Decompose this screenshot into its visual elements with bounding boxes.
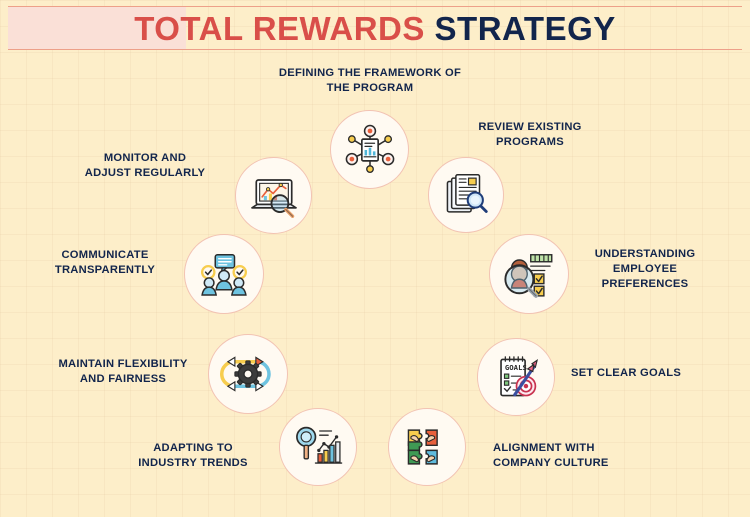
puzzle-hands-icon bbox=[400, 420, 454, 474]
svg-text:GOALS: GOALS bbox=[504, 363, 526, 372]
step-node-defining-framework[interactable] bbox=[330, 110, 409, 189]
step-label-monitor-and-adjust-regularly: MONITOR AND ADJUST REGULARLY bbox=[60, 151, 230, 181]
trend-analysis-icon bbox=[291, 420, 345, 474]
step-label-defining-framework: DEFINING THE FRAMEWORK OF THE PROGRAM bbox=[268, 66, 472, 96]
page-title: TOTAL REWARDS STRATEGY bbox=[134, 12, 616, 45]
documents-search-icon bbox=[439, 168, 493, 222]
page-title-primary: TOTAL REWARDS bbox=[134, 10, 434, 47]
step-node-understanding-employee-preferences[interactable] bbox=[489, 234, 569, 314]
step-label-communicate-transparently: COMMUNICATE TRANSPARENTLY bbox=[25, 248, 185, 278]
step-label-understanding-employee-preferences: UNDERSTANDING EMPLOYEE PREFERENCES bbox=[565, 247, 725, 292]
employee-survey-icon bbox=[501, 246, 557, 302]
step-node-review-existing-programs[interactable] bbox=[428, 157, 504, 233]
step-label-review-existing-programs: REVIEW EXISTING PROGRAMS bbox=[455, 120, 605, 150]
step-node-set-clear-goals[interactable]: GOALS bbox=[477, 338, 555, 416]
team-communication-icon bbox=[196, 246, 252, 302]
network-document-icon bbox=[341, 121, 399, 179]
laptop-analytics-icon bbox=[247, 169, 301, 223]
step-node-communicate-transparently[interactable] bbox=[184, 234, 264, 314]
step-label-set-clear-goals: SET CLEAR GOALS bbox=[571, 366, 741, 381]
page-title-secondary: STRATEGY bbox=[435, 10, 616, 47]
step-label-maintain-flexibility-and-fairness: MAINTAIN FLEXIBILITY AND FAIRNESS bbox=[38, 357, 208, 387]
step-node-monitor-and-adjust-regularly[interactable] bbox=[235, 157, 312, 234]
header-band: TOTAL REWARDS STRATEGY bbox=[8, 6, 742, 50]
goals-target-icon: GOALS bbox=[489, 350, 544, 405]
step-label-adapting-to-industry-trends: ADAPTING TO INDUSTRY TRENDS bbox=[108, 441, 278, 471]
step-node-adapting-to-industry-trends[interactable] bbox=[279, 408, 357, 486]
step-node-alignment-with-company-culture[interactable] bbox=[388, 408, 466, 486]
step-node-maintain-flexibility-and-fairness[interactable] bbox=[208, 334, 288, 414]
gear-cycle-icon bbox=[220, 346, 276, 402]
infographic-canvas: TOTAL REWARDS STRATEGY bbox=[0, 0, 750, 517]
step-label-alignment-with-company-culture: ALIGNMENT WITH COMPANY CULTURE bbox=[493, 441, 693, 471]
